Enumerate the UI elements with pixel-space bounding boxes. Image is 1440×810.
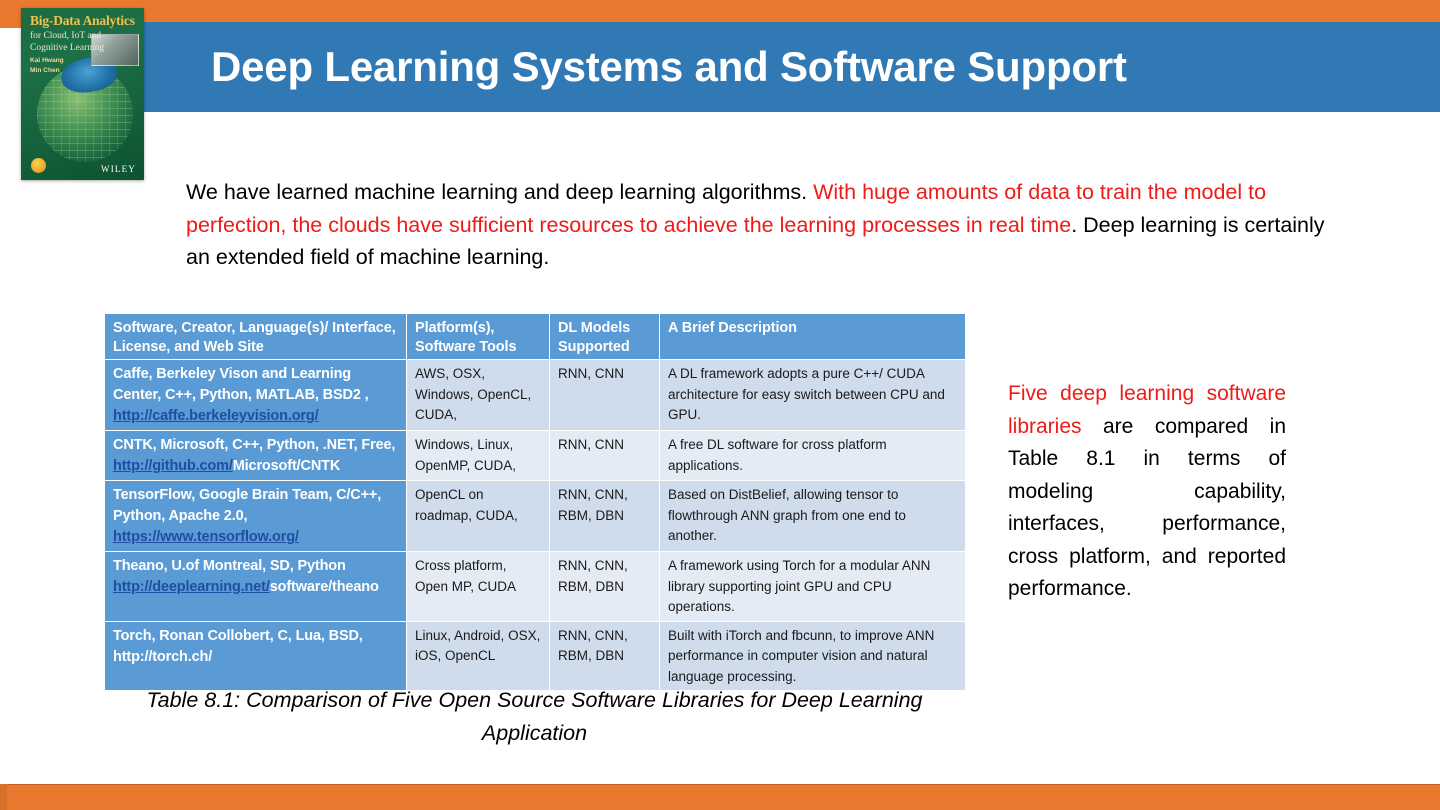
side-note: Five deep learning software libraries ar… — [1008, 378, 1286, 606]
table-header-row: Software, Creator, Language(s)/ Interfac… — [105, 314, 966, 360]
title-band: Deep Learning Systems and Software Suppo… — [143, 22, 1440, 112]
cell-models: RNN, CNN, RBM, DBN — [550, 552, 660, 622]
publisher-logo: WILEY — [101, 164, 136, 174]
cell-platforms: Windows, Linux, OpenMP, CUDA, — [407, 431, 550, 481]
cell-description: A DL framework adopts a pure C++/ CUDA a… — [660, 360, 966, 431]
cell-software: Caffe, Berkeley Vison and Learning Cente… — [105, 360, 407, 431]
cell-models: RNN, CNN, RBM, DBN — [550, 481, 660, 552]
software-name-text: Theano, U.of Montreal, SD, Python — [113, 558, 346, 574]
cell-software: Theano, U.of Montreal, SD, Python http:/… — [105, 552, 407, 622]
table-row: Torch, Ronan Collobert, C, Lua, BSD, htt… — [105, 621, 966, 691]
bottom-bar-tab — [0, 784, 7, 810]
book-authors: Kai Hwang Min Chen — [30, 56, 64, 75]
cell-platforms: AWS, OSX, Windows, OpenCL, CUDA, — [407, 360, 550, 431]
page-title: Deep Learning Systems and Software Suppo… — [211, 43, 1127, 91]
book-cover-image: Big-Data Analytics for Cloud, IoT and Co… — [21, 8, 144, 180]
software-name-text: TensorFlow, Google Brain Team, C/C++, Py… — [113, 487, 381, 524]
cell-software: TensorFlow, Google Brain Team, C/C++, Py… — [105, 481, 407, 552]
software-url-link[interactable]: https://www.tensorflow.org/ — [113, 529, 299, 545]
software-url-tail: software/theano — [270, 579, 379, 595]
table-body: Caffe, Berkeley Vison and Learning Cente… — [105, 360, 966, 691]
column-header-description: A Brief Description — [660, 314, 966, 360]
software-url-link[interactable]: http://caffe.berkeleyvision.org/ — [113, 408, 319, 424]
intro-paragraph: We have learned machine learning and dee… — [186, 176, 1331, 274]
software-name-text: CNTK, Microsoft, C++, Python, .NET, Free… — [113, 437, 395, 453]
book-subtitle: for Cloud, IoT and Cognitive Learning — [30, 31, 116, 54]
software-name-text: Torch, Ronan Collobert, C, Lua, BSD, htt… — [113, 628, 363, 665]
book-title: Big-Data Analytics — [30, 14, 135, 28]
cell-platforms: Linux, Android, OSX, iOS, OpenCL — [407, 621, 550, 691]
software-url-link[interactable]: http://github.com/ — [113, 458, 233, 474]
cover-seal-icon — [31, 158, 46, 173]
table-row: TensorFlow, Google Brain Team, C/C++, Py… — [105, 481, 966, 552]
table-row: Theano, U.of Montreal, SD, Python http:/… — [105, 552, 966, 622]
cell-platforms: Cross platform, Open MP, CUDA — [407, 552, 550, 622]
table-caption: Table 8.1: Comparison of Five Open Sourc… — [104, 684, 965, 750]
column-header-software: Software, Creator, Language(s)/ Interfac… — [105, 314, 407, 360]
table-row: CNTK, Microsoft, C++, Python, .NET, Free… — [105, 431, 966, 481]
cell-description: A framework using Torch for a modular AN… — [660, 552, 966, 622]
cell-software: Torch, Ronan Collobert, C, Lua, BSD, htt… — [105, 621, 407, 691]
side-note-body: are compared in Table 8.1 in terms of mo… — [1008, 415, 1286, 601]
cell-description: Based on DistBelief, allowing tensor to … — [660, 481, 966, 552]
column-header-platforms: Platform(s), Software Tools — [407, 314, 550, 360]
cell-software: CNTK, Microsoft, C++, Python, .NET, Free… — [105, 431, 407, 481]
cell-models: RNN, CNN, RBM, DBN — [550, 621, 660, 691]
software-url-tail: Microsoft/CNTK — [233, 458, 340, 474]
table-row: Caffe, Berkeley Vison and Learning Cente… — [105, 360, 966, 431]
cell-models: RNN, CNN — [550, 360, 660, 431]
comparison-table: Software, Creator, Language(s)/ Interfac… — [104, 313, 966, 691]
cell-platforms: OpenCL on roadmap, CUDA, — [407, 481, 550, 552]
software-name-text: Caffe, Berkeley Vison and Learning Cente… — [113, 366, 369, 403]
bottom-accent-bar — [0, 784, 1440, 810]
column-header-models: DL Models Supported — [550, 314, 660, 360]
cell-models: RNN, CNN — [550, 431, 660, 481]
intro-text-part1: We have learned machine learning and dee… — [186, 180, 813, 204]
cell-description: Built with iTorch and fbcunn, to improve… — [660, 621, 966, 691]
cell-description: A free DL software for cross platform ap… — [660, 431, 966, 481]
software-url-link[interactable]: http://deeplearning.net/ — [113, 579, 270, 595]
